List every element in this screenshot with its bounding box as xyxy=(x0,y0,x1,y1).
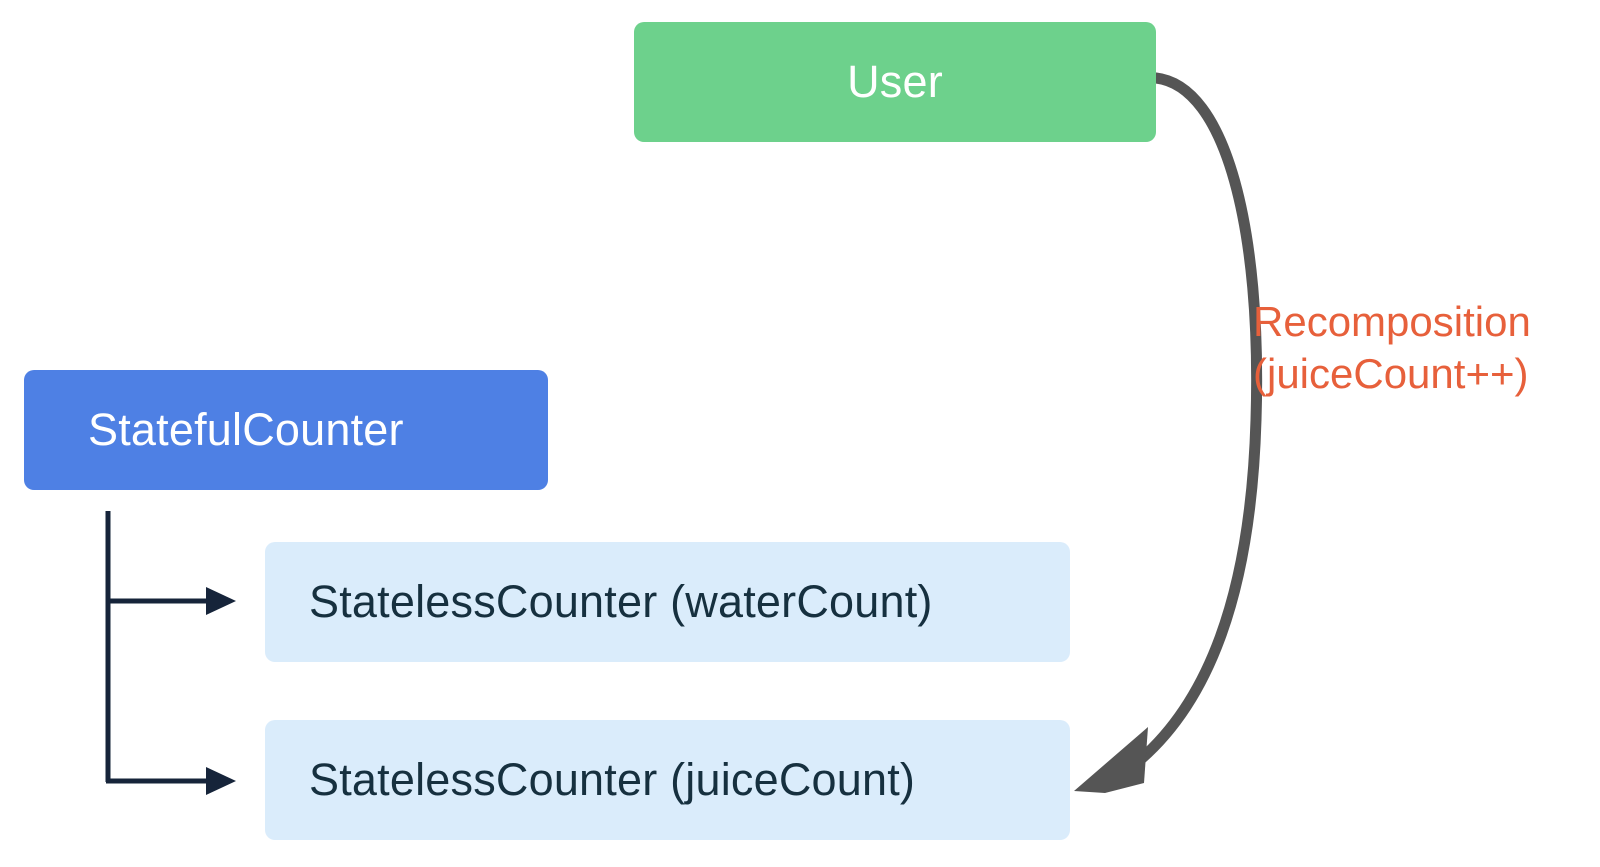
annotation-recomposition-line1: Recomposition xyxy=(1253,296,1531,348)
node-stateless-counter-water[interactable]: StatelessCounter (waterCount) xyxy=(265,542,1070,662)
node-stateless-counter-juice[interactable]: StatelessCounter (juiceCount) xyxy=(265,720,1070,840)
node-stateless-counter-water-label: StatelessCounter (waterCount) xyxy=(309,576,933,628)
annotation-recomposition-line2: (juiceCount++) xyxy=(1253,348,1531,400)
annotation-recomposition: Recomposition (juiceCount++) xyxy=(1253,296,1531,400)
node-user-label: User xyxy=(847,56,943,108)
node-user[interactable]: User xyxy=(634,22,1156,142)
recomposition-curve-path xyxy=(1122,78,1257,774)
node-stateless-counter-juice-label: StatelessCounter (juiceCount) xyxy=(309,754,915,806)
node-stateful-counter-label: StatefulCounter xyxy=(88,404,404,456)
tree-arrowhead-water xyxy=(206,587,236,615)
diagram-canvas: User StatefulCounter StatelessCounter (w… xyxy=(0,0,1600,867)
tree-arrowhead-juice xyxy=(206,767,236,795)
node-stateful-counter[interactable]: StatefulCounter xyxy=(24,370,548,490)
recomposition-arrowhead xyxy=(1074,727,1148,793)
